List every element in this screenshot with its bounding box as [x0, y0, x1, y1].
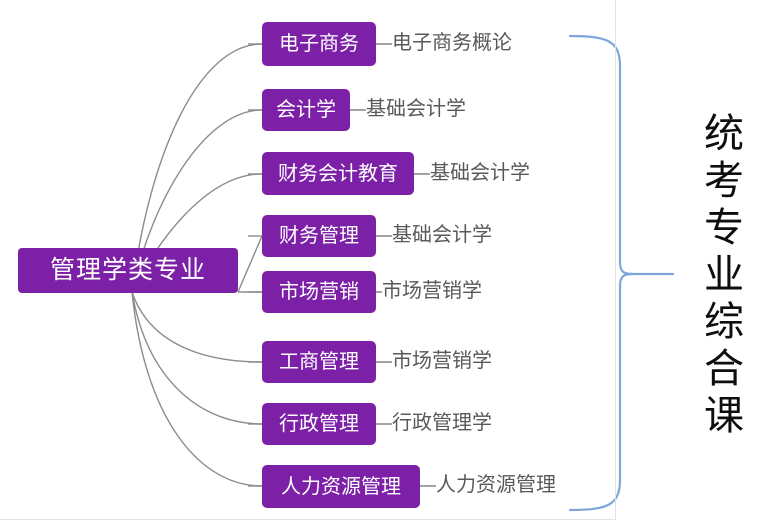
group-title-text: 统考专业综合课 — [698, 112, 743, 441]
major-node-label: 工商管理 — [279, 352, 359, 372]
major-node-2[interactable]: 会计学 — [262, 89, 350, 131]
major-node-6[interactable]: 工商管理 — [262, 341, 376, 383]
major-node-1[interactable]: 电子商务 — [262, 22, 376, 66]
course-text: 人力资源管理 — [436, 474, 556, 496]
content-right-divider — [615, 0, 616, 520]
major-node-label: 人力资源管理 — [281, 477, 401, 497]
course-text: 市场营销学 — [382, 280, 482, 302]
course-text: 基础会计学 — [430, 162, 530, 184]
course-text: 基础会计学 — [366, 98, 466, 120]
course-label-2: 基础会计学 — [366, 99, 466, 119]
course-label-5: 市场营销学 — [382, 281, 482, 301]
course-text: 电子商务概论 — [392, 32, 512, 54]
course-label-3: 基础会计学 — [430, 163, 530, 183]
major-node-5[interactable]: 市场营销 — [262, 271, 376, 313]
course-label-8: 人力资源管理 — [436, 475, 556, 495]
course-label-6: 市场营销学 — [392, 351, 492, 371]
course-label-7: 行政管理学 — [392, 413, 492, 433]
root-node[interactable]: 管理学类专业 — [18, 248, 238, 293]
course-text: 市场营销学 — [392, 350, 492, 372]
major-node-3[interactable]: 财务会计教育 — [262, 152, 414, 195]
major-node-label: 行政管理 — [279, 414, 359, 434]
footer-divider — [0, 519, 616, 520]
course-label-4: 基础会计学 — [392, 225, 492, 245]
major-node-8[interactable]: 人力资源管理 — [262, 465, 420, 508]
major-node-4[interactable]: 财务管理 — [262, 215, 376, 257]
major-node-label: 财务管理 — [279, 226, 359, 246]
major-node-label: 会计学 — [276, 100, 336, 120]
course-label-1: 电子商务概论 — [392, 33, 512, 53]
course-text: 行政管理学 — [392, 412, 492, 434]
root-node-label: 管理学类专业 — [50, 258, 206, 283]
course-text: 基础会计学 — [392, 224, 492, 246]
group-title-vertical: 统考专业综合课 — [700, 112, 740, 441]
major-node-label: 电子商务 — [279, 34, 359, 54]
major-node-label: 市场营销 — [279, 282, 359, 302]
major-node-7[interactable]: 行政管理 — [262, 403, 376, 445]
major-node-label: 财务会计教育 — [278, 164, 398, 184]
mindmap-canvas: 管理学类专业 电子商务 会计学 财务会计教育 财务管理 市场营销 工商管理 行政… — [0, 0, 768, 530]
